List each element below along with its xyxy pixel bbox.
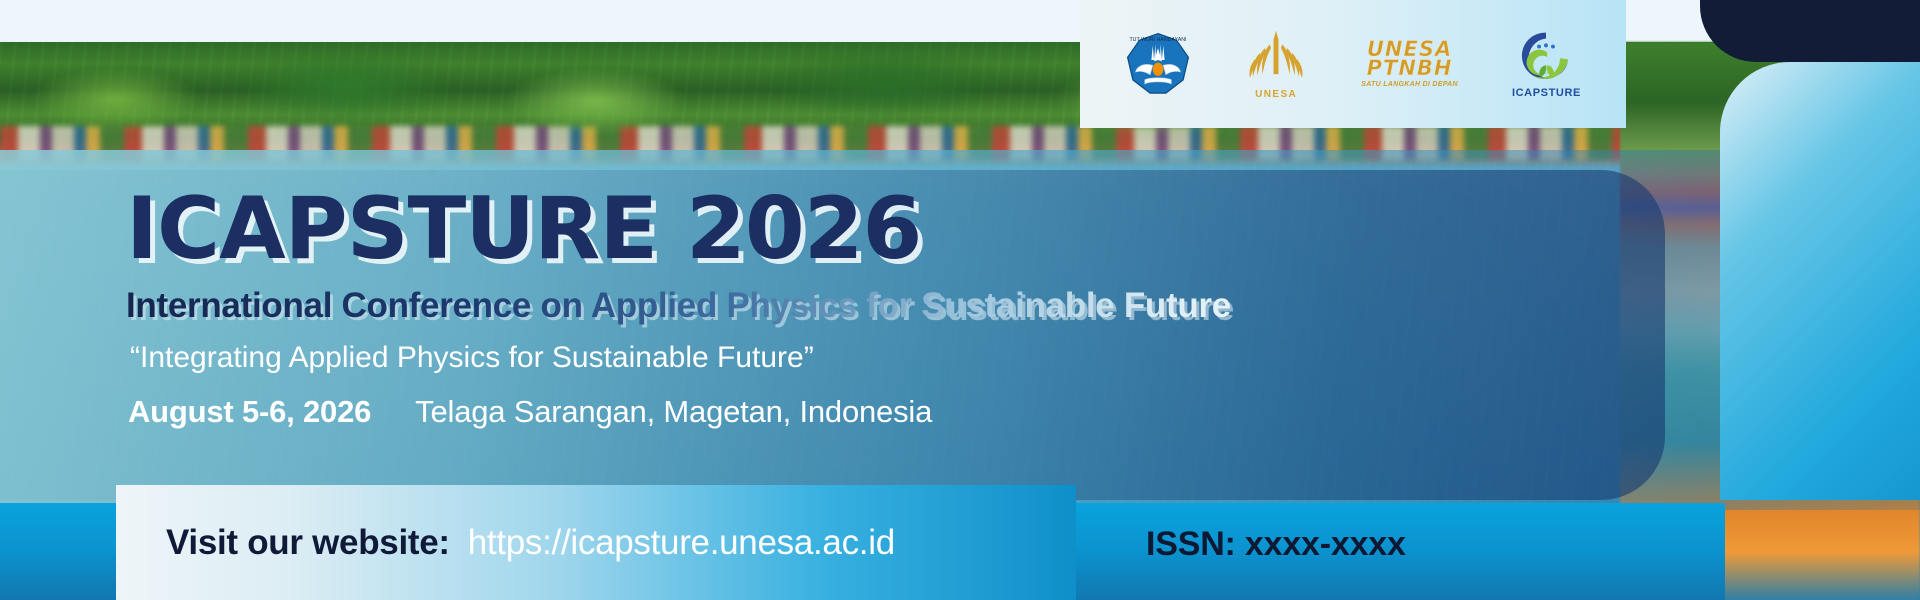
kemendikbud-motto-text: TUT WURI HANDAYANI: [1130, 37, 1187, 43]
conference-date: August 5-6, 2026: [128, 394, 371, 430]
website-panel: Visit our website: https://icapsture.une…: [116, 485, 1076, 600]
logo-kemendikbud: TUT WURI HANDAYANI: [1125, 31, 1191, 97]
unesa-caption: UNESA: [1255, 89, 1297, 100]
website-url-link[interactable]: https://icapsture.unesa.ac.id: [468, 523, 895, 563]
logo-strip: TUT WURI HANDAYANI UNESA: [1080, 0, 1626, 128]
ptnbh-tagline: SATU LANGKAH DI DEPAN: [1361, 82, 1458, 88]
top-light-strip: [0, 0, 1920, 42]
visit-website-label: Visit our website:: [166, 523, 450, 563]
logo-icapsture: ICAPSTURE: [1512, 29, 1581, 99]
cyan-accent-panel: [1720, 62, 1920, 500]
logo-unesa-ptnbh: UNESA PTNBH SATU LANGKAH DI DEPAN: [1361, 40, 1458, 88]
page-title: ICAPSTURE 2026: [126, 186, 1566, 272]
navy-corner-shape: [1700, 0, 1920, 62]
conference-venue: Telaga Sarangan, Magetan, Indonesia: [415, 394, 932, 430]
banner-text-block: ICAPSTURE 2026 International Conference …: [126, 186, 1566, 430]
unesa-torch-icon: [1245, 29, 1307, 87]
icapsture-caption: ICAPSTURE: [1512, 87, 1581, 99]
icapsture-swirl-icon: [1517, 29, 1575, 85]
conference-banner: TUT WURI HANDAYANI UNESA: [0, 0, 1920, 600]
conference-subtitle: International Conference on Applied Phys…: [126, 288, 1566, 325]
issn-number: ISSN: xxxx-xxxx: [1146, 525, 1406, 564]
date-venue-row: August 5-6, 2026 Telaga Sarangan, Mageta…: [128, 394, 1566, 430]
conference-theme-quote: “Integrating Applied Physics for Sustain…: [130, 341, 1566, 374]
ptnbh-line-2: PTNBH: [1361, 59, 1458, 78]
tut-wuri-handayani-icon: TUT WURI HANDAYANI: [1125, 31, 1191, 97]
logo-unesa: UNESA: [1245, 29, 1307, 100]
